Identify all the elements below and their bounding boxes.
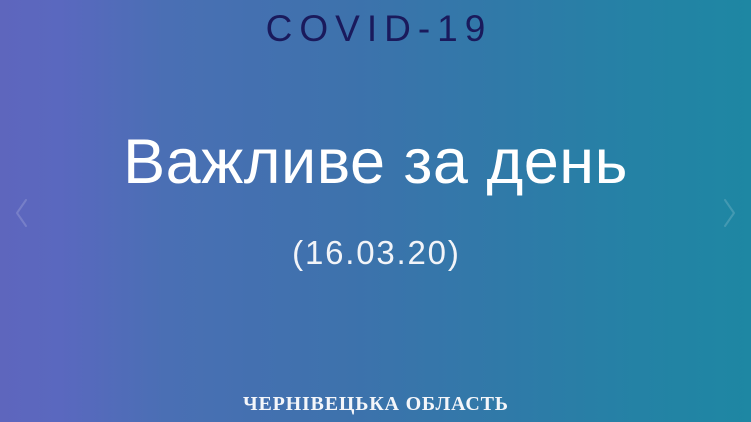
slide-headline: Важливе за день (0, 125, 751, 199)
covid-daily-summary-slide: COVID-19 Важливе за день (16.03.20) ЧЕРН… (0, 0, 751, 422)
page-title: COVID-19 (0, 6, 751, 51)
chevron-right-icon (719, 197, 739, 229)
carousel-prev-button[interactable] (2, 193, 42, 233)
slide-date: (16.03.20) (0, 231, 751, 275)
carousel-next-button[interactable] (709, 193, 749, 233)
chevron-left-icon (12, 197, 32, 229)
region-name: ЧЕРНІВЕЦЬКА ОБЛАСТЬ (0, 391, 751, 417)
